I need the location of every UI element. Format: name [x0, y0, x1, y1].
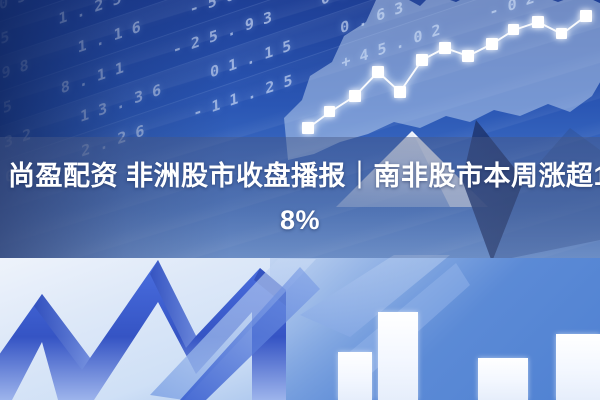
- bar-column: [556, 334, 600, 400]
- bar-chart-columns: [0, 258, 600, 400]
- bar-column: [378, 312, 418, 400]
- headline-text: 尚盈配资 非洲股市收盘播报｜南非股市本周涨超1. 8%: [0, 137, 600, 258]
- news-banner: -02.36+45.0221.06-11.258.11 2.35-08.98-1…: [0, 0, 600, 400]
- headline-line-2: 8%: [280, 198, 320, 242]
- headline-line-1: 尚盈配资 非洲股市收盘播报｜南非股市本周涨超1.: [0, 154, 600, 198]
- bar-column: [338, 352, 372, 400]
- bar-column: [478, 358, 528, 400]
